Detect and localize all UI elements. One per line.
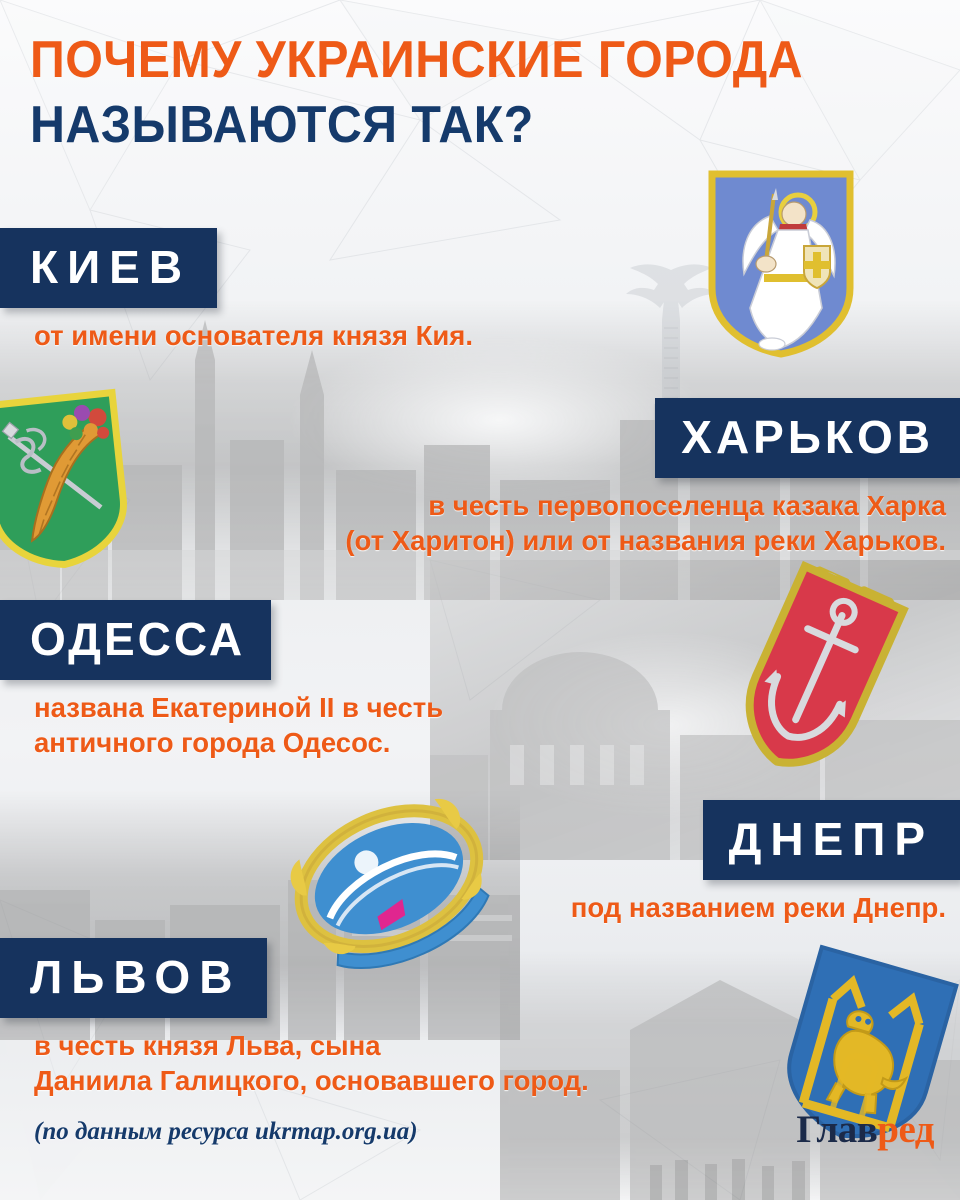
city-name-lvov: ЛЬВОВ [0, 938, 267, 1018]
city-description-kharkov: в честь первопоселенца казака Харка (от … [345, 488, 946, 558]
city-block-kiev: КИЕВ от имени основателя князя Кия. [0, 228, 473, 353]
city-description-odessa-line2: античного города Одесос. [34, 727, 390, 758]
infographic-poster: ПОЧЕМУ УКРАИНСКИЕ ГОРОДА НАЗЫВАЮТСЯ ТАК? [0, 0, 960, 1200]
kyiv-coat-of-arms-icon [706, 168, 856, 358]
city-name-dnepr: ДНЕПР [703, 800, 960, 880]
city-description-kiev: от имени основателя князя Кия. [34, 318, 473, 353]
city-block-odessa: ОДЕССА названа Екатериной II в честь ант… [0, 600, 443, 760]
city-description-kharkov-line2: (от Харитон) или от названия реки Харько… [345, 525, 946, 556]
logo-part-red: ред [877, 1108, 934, 1151]
city-description-odessa-line1: названа Екатериной II в честь [34, 692, 443, 723]
city-block-kharkov: ХАРЬКОВ в честь первопоселенца казака Ха… [345, 398, 960, 558]
city-block-lvov: ЛЬВОВ в честь князя Льва, сына Даниила Г… [0, 938, 589, 1098]
poster-header: ПОЧЕМУ УКРАИНСКИЕ ГОРОДА НАЗЫВАЮТСЯ ТАК? [0, 0, 960, 152]
city-name-odessa: ОДЕССА [0, 600, 271, 680]
page-title-line2: НАЗЫВАЮТСЯ ТАК? [30, 99, 867, 152]
city-name-kharkov: ХАРЬКОВ [655, 398, 960, 478]
page-title-line1: ПОЧЕМУ УКРАИНСКИЕ ГОРОДА [30, 34, 867, 87]
logo-part-glav: Глав [796, 1108, 877, 1151]
city-name-kiev: КИЕВ [0, 228, 217, 308]
city-description-dnepr: под названием реки Днепр. [571, 890, 946, 925]
city-description-odessa: названа Екатериной II в честь античного … [34, 690, 443, 760]
city-block-dnepr: ДНЕПР под названием реки Днепр. [571, 800, 960, 925]
kharkiv-coat-of-arms-icon [0, 387, 135, 576]
city-description-lvov: в честь князя Льва, сына Даниила Галицко… [34, 1028, 589, 1098]
poster-footer: (по данным ресурса ukrmap.org.ua) Главре… [0, 1090, 960, 1200]
glavred-logo[interactable]: Главред [796, 1110, 934, 1149]
source-attribution: (по данным ресурса ukrmap.org.ua) [34, 1118, 418, 1146]
city-description-kharkov-line1: в честь первопоселенца казака Харка [428, 490, 946, 521]
city-description-lvov-line1: в честь князя Льва, сына [34, 1030, 381, 1061]
